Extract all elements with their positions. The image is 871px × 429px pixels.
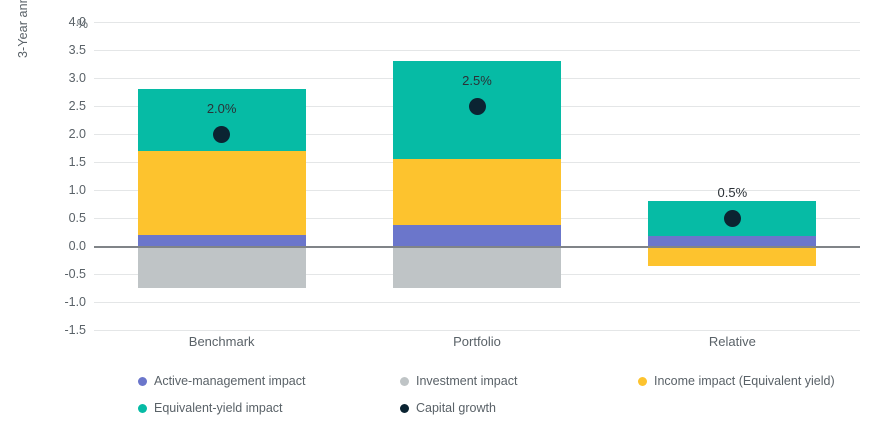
bar-segment[interactable] [138,151,306,235]
y-axis-tick-label: 3.0 [40,72,86,85]
chart-legend: Active-management impactInvestment impac… [138,368,858,424]
capital-growth-marker[interactable] [724,210,741,227]
y-axis-title: 3-Year annualized return / impact [16,0,34,58]
legend-swatch-icon [400,377,409,386]
bar-group[interactable] [648,22,816,330]
legend-item[interactable]: Capital growth [400,395,496,421]
legend-item[interactable]: Equivalent-yield impact [138,395,283,421]
legend-row: Active-management impactInvestment impac… [138,368,858,394]
capital-growth-marker[interactable] [469,98,486,115]
stacked-bar-chart: % 3-Year annualized return / impact 4.03… [0,0,871,429]
bar-segment[interactable] [393,246,561,288]
legend-label: Income impact (Equivalent yield) [654,374,835,388]
x-axis-tick-label: Relative [652,334,812,349]
y-axis-tick-label: 4.0 [40,16,86,29]
bar-segment[interactable] [138,246,306,288]
y-axis-tick-label: 1.0 [40,184,86,197]
legend-item[interactable]: Active-management impact [138,368,305,394]
y-axis-tick-label: 0.5 [40,212,86,225]
y-axis-tick-label: 2.5 [40,100,86,113]
legend-swatch-icon [400,404,409,413]
capital-growth-data-label: 2.0% [177,101,267,116]
legend-swatch-icon [138,377,147,386]
legend-label: Investment impact [416,374,517,388]
bar-segment[interactable] [393,159,561,225]
bar-segment[interactable] [648,236,816,246]
bar-group[interactable] [138,22,306,330]
y-axis-tick-label: -1.5 [40,324,86,337]
bar-segment[interactable] [648,246,816,266]
y-axis-tick-label: 1.5 [40,156,86,169]
legend-item[interactable]: Investment impact [400,368,517,394]
legend-label: Capital growth [416,401,496,415]
plot-area: 4.03.53.02.52.01.51.00.50.0-0.5-1.0-1.5 … [94,22,860,330]
capital-growth-marker[interactable] [213,126,230,143]
capital-growth-data-label: 0.5% [687,185,777,200]
legend-item[interactable]: Income impact (Equivalent yield) [638,368,835,394]
legend-row: Equivalent-yield impactCapital growth [138,395,858,421]
gridline [94,330,860,331]
y-axis-tick-label: 3.5 [40,44,86,57]
legend-label: Active-management impact [154,374,305,388]
legend-swatch-icon [138,404,147,413]
x-axis-tick-label: Portfolio [397,334,557,349]
y-axis-tick-label: -0.5 [40,268,86,281]
bar-segment[interactable] [138,235,306,246]
y-axis-tick-label: 0.0 [40,240,86,253]
bar-segment[interactable] [393,225,561,246]
y-axis-tick-label: -1.0 [40,296,86,309]
legend-swatch-icon [638,377,647,386]
x-axis-tick-label: Benchmark [142,334,302,349]
bar-group[interactable] [393,22,561,330]
zero-axis-line [94,246,860,248]
capital-growth-data-label: 2.5% [432,73,522,88]
y-axis-tick-label: 2.0 [40,128,86,141]
legend-label: Equivalent-yield impact [154,401,283,415]
